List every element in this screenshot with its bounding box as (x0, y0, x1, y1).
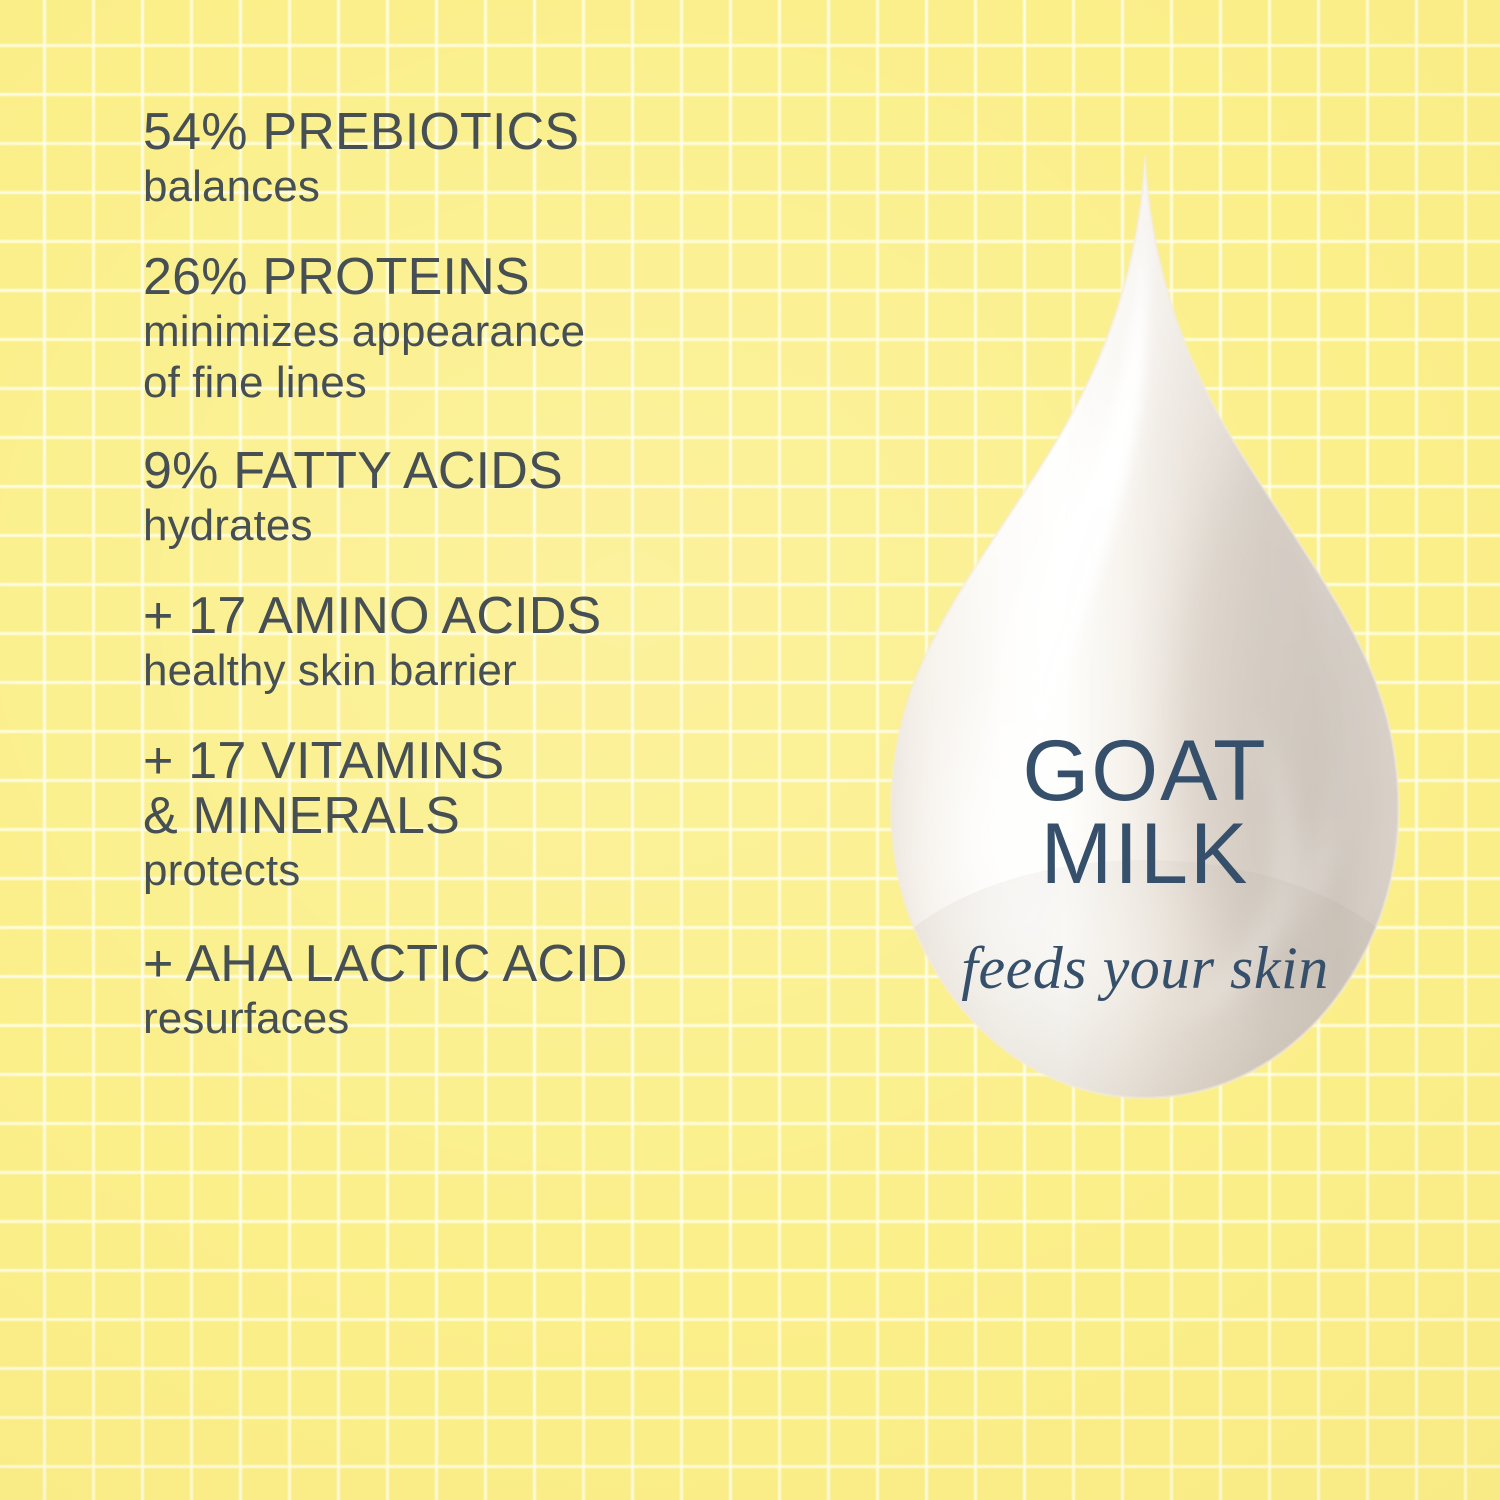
ingredient-headline: 26% PROTEINS (143, 250, 883, 305)
ingredient-item-fatty-acids: 9% FATTY ACIDS hydrates (143, 444, 883, 551)
ingredient-item-aha-lactic-acid: + AHA LACTIC ACID resurfaces (143, 937, 883, 1044)
ingredient-headline: 9% FATTY ACIDS (143, 444, 883, 499)
ingredient-headline: + 17 VITAMINS & MINERALS (143, 734, 883, 844)
ingredient-headline: + AHA LACTIC ACID (143, 937, 883, 992)
ingredient-benefit: resurfaces (143, 994, 883, 1044)
ingredient-item-amino-acids: + 17 AMINO ACIDS healthy skin barrier (143, 589, 883, 696)
ingredient-benefit: minimizes appearance of fine lines (143, 307, 883, 407)
ingredient-headline: 54% PREBIOTICS (143, 105, 883, 160)
ingredient-benefit: protects (143, 846, 883, 896)
infographic-canvas: 54% PREBIOTICS balances 26% PROTEINS min… (0, 0, 1500, 1500)
milk-droplet-graphic (855, 150, 1435, 1210)
ingredient-benefit: healthy skin barrier (143, 646, 883, 696)
ingredient-benefit: balances (143, 162, 883, 212)
ingredient-headline: + 17 AMINO ACIDS (143, 589, 883, 644)
ingredient-list: 54% PREBIOTICS balances 26% PROTEINS min… (143, 105, 883, 1044)
ingredient-item-proteins: 26% PROTEINS minimizes appearance of fin… (143, 250, 883, 407)
ingredient-benefit: hydrates (143, 501, 883, 551)
ingredient-item-prebiotics: 54% PREBIOTICS balances (143, 105, 883, 212)
ingredient-item-vitamins-minerals: + 17 VITAMINS & MINERALS protects (143, 734, 883, 896)
milk-droplet-icon (855, 150, 1435, 1210)
